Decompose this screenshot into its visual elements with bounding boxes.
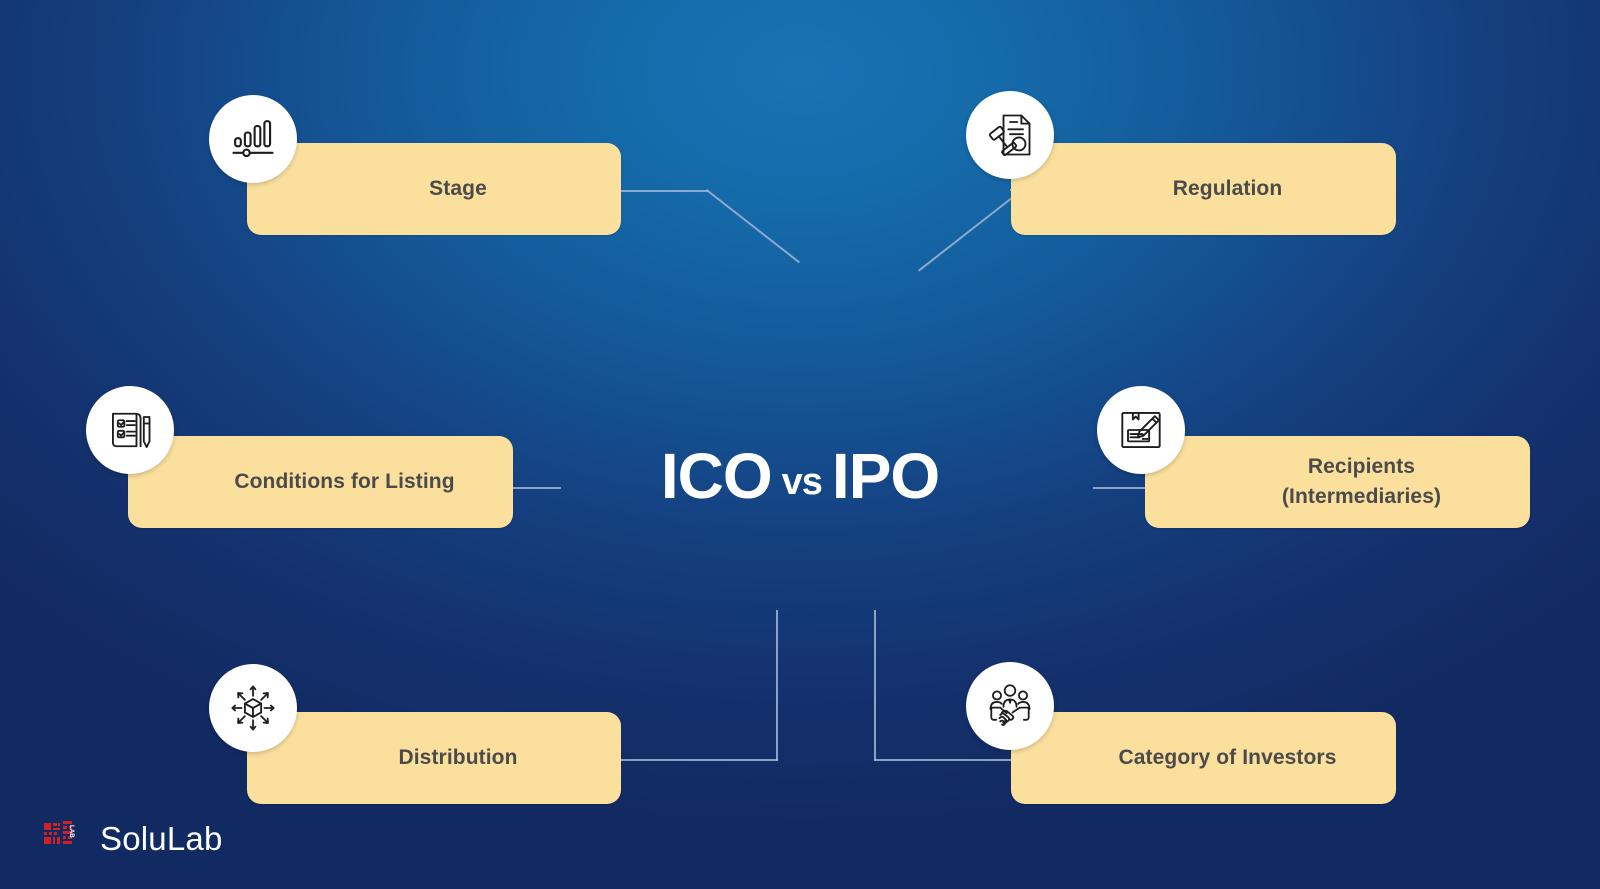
node-stage-label: Stage — [429, 174, 487, 204]
node-stage[interactable]: Stage — [247, 143, 621, 235]
connector-stage-horizontal — [621, 190, 708, 192]
node-stage-box[interactable]: Stage — [247, 143, 621, 235]
cube-arrows-icon — [209, 664, 297, 752]
solulab-wordmark: SoluLab — [100, 820, 223, 858]
node-conditions-for-listing[interactable]: Conditions for Listing — [128, 436, 513, 528]
connector-investors-horizontal — [874, 759, 1012, 761]
title-separator: vs — [772, 461, 832, 503]
node-distribution-label: Distribution — [398, 743, 517, 773]
handshake-people-icon — [966, 662, 1054, 750]
node-conditions-box[interactable]: Conditions for Listing — [128, 436, 513, 528]
node-investors-label: Category of Investors — [1119, 743, 1337, 773]
infographic-canvas: ICOvsIPO Stage — [0, 0, 1600, 889]
solulab-mark-text: LAB — [68, 825, 75, 838]
gavel-document-icon — [966, 91, 1054, 179]
title-left-term: ICO — [661, 440, 772, 512]
node-regulation[interactable]: Regulation — [1011, 143, 1396, 235]
node-category-of-investors[interactable]: Category of Investors — [1011, 712, 1396, 804]
title-right-term: IPO — [832, 440, 939, 512]
connector-investors-vertical — [874, 610, 876, 761]
node-recipients-box[interactable]: Recipients (Intermediaries) — [1145, 436, 1530, 528]
cheque-pen-icon — [1097, 386, 1185, 474]
node-distribution[interactable]: Distribution — [247, 712, 621, 804]
node-conditions-label: Conditions for Listing — [234, 467, 454, 497]
node-regulation-label: Regulation — [1173, 174, 1283, 204]
node-distribution-box[interactable]: Distribution — [247, 712, 621, 804]
node-investors-box[interactable]: Category of Investors — [1011, 712, 1396, 804]
connector-stage-diagonal — [706, 189, 800, 263]
bar-chart-icon — [209, 95, 297, 183]
connector-distribution-horizontal — [621, 759, 778, 761]
node-regulation-box[interactable]: Regulation — [1011, 143, 1396, 235]
solulab-logo[interactable]: LAB SoluLab — [44, 819, 223, 859]
node-recipients-label: Recipients (Intermediaries) — [1282, 452, 1441, 513]
connector-distribution-vertical — [776, 610, 778, 761]
node-recipients[interactable]: Recipients (Intermediaries) — [1145, 436, 1530, 528]
connector-regulation-diagonal — [918, 197, 1012, 271]
checklist-pencil-icon — [86, 386, 174, 474]
solulab-logo-mark: LAB — [44, 819, 88, 859]
